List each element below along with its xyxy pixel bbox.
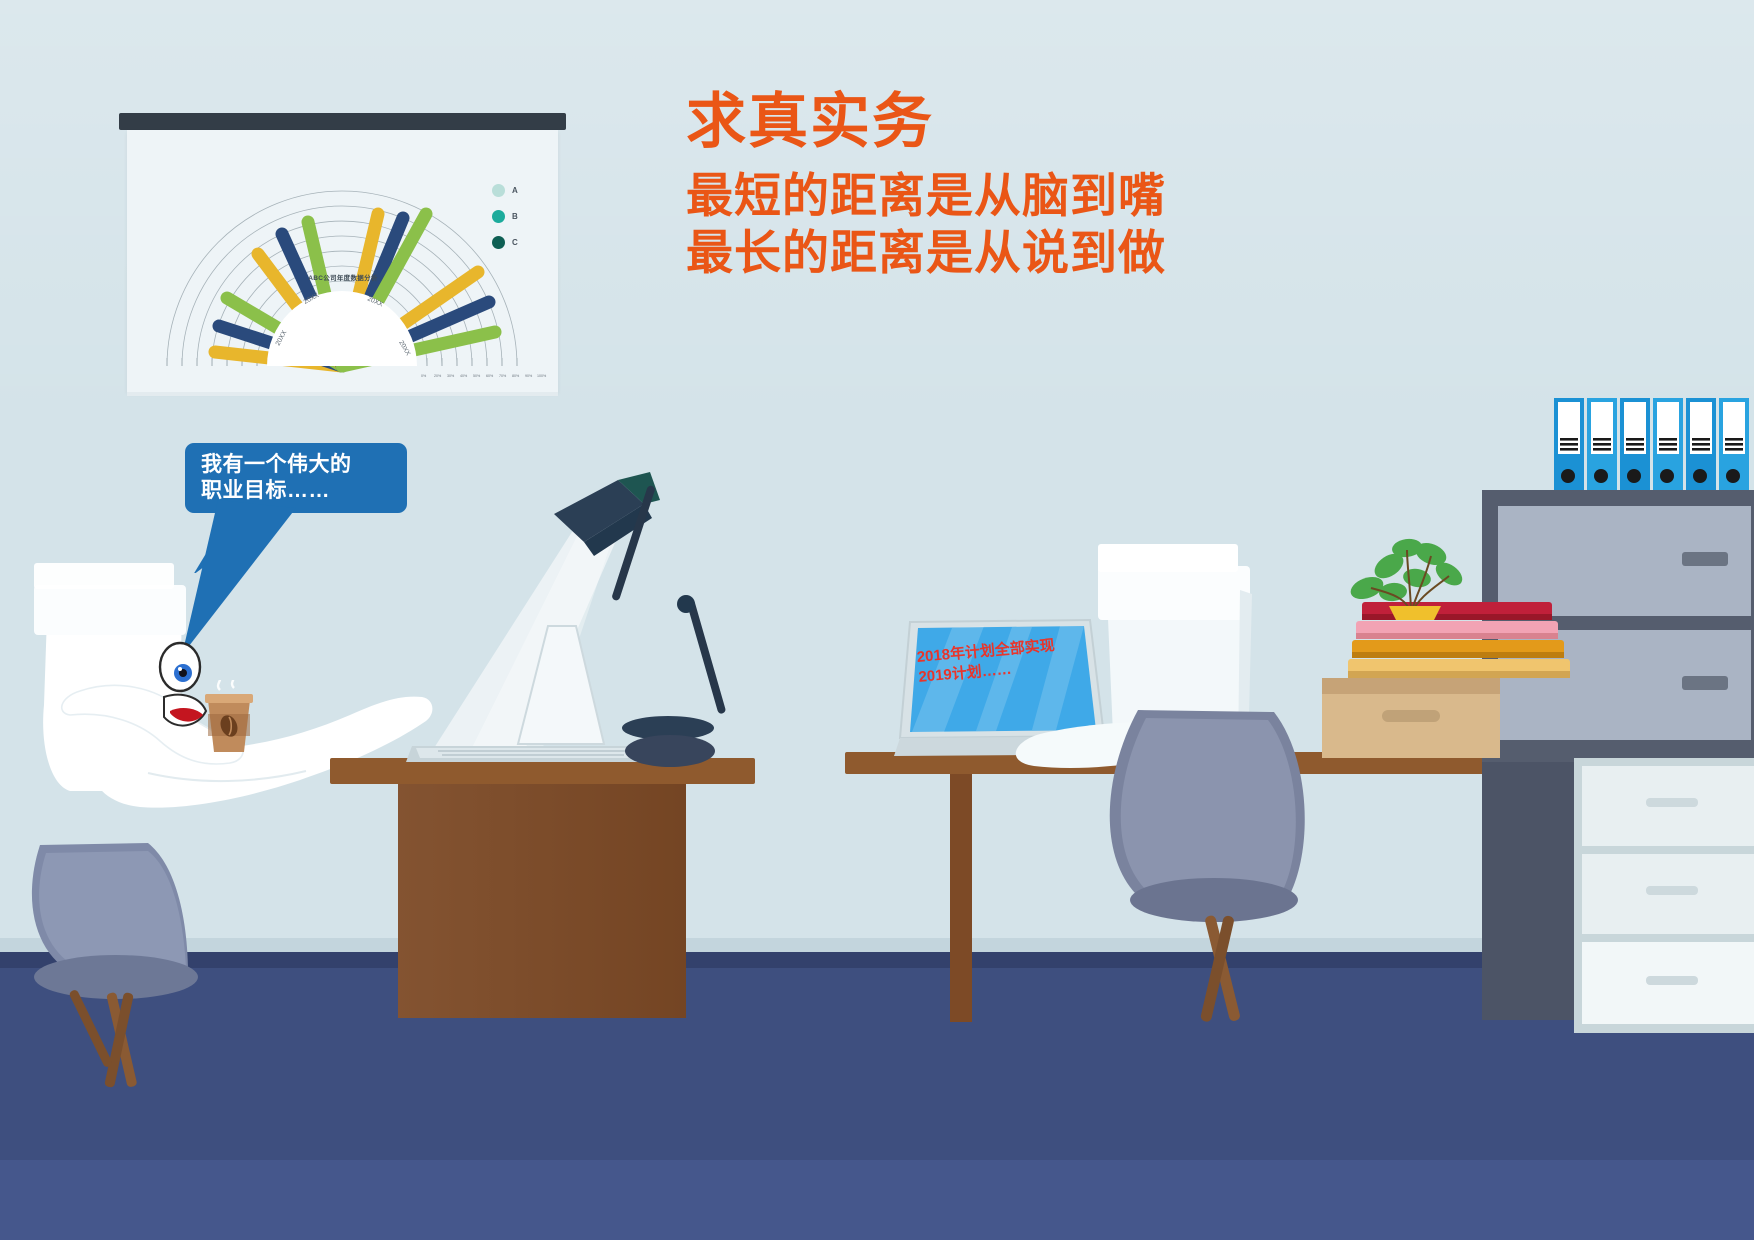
headline-title: 求真实务	[686, 90, 1386, 153]
headline-line-1: 最短的距离是从脑到嘴	[686, 169, 1166, 222]
legend-item: A	[492, 184, 552, 197]
plant-pot	[1389, 606, 1441, 620]
binder	[1554, 398, 1584, 490]
svg-text:80%: 80%	[512, 374, 520, 378]
drawer-handle	[1646, 976, 1698, 985]
right-office-chair	[1098, 700, 1328, 1030]
cabinet-handle	[1682, 676, 1728, 690]
projector-screen: 20XX 20XX 20XX 20XX 0% 20% 30% 40% 50% 6…	[119, 113, 566, 410]
binder	[1587, 398, 1617, 490]
drawer	[1582, 766, 1754, 846]
potted-plant-icon	[1345, 530, 1475, 620]
legend-swatch-c	[492, 236, 505, 249]
svg-text:70%: 70%	[499, 374, 507, 378]
drawer	[1582, 854, 1754, 934]
computer-mouse-icon	[625, 735, 715, 767]
drawer-handle	[1646, 798, 1698, 807]
svg-text:0%: 0%	[421, 374, 427, 378]
drawer	[1582, 942, 1754, 1024]
binder-row	[1552, 392, 1754, 492]
svg-text:100%: 100%	[537, 374, 547, 378]
legend-item: C	[492, 236, 552, 249]
legend-label-c: C	[512, 238, 518, 247]
cardboard-box	[1322, 678, 1500, 758]
book	[1352, 640, 1564, 658]
illustration-stage: 20XX 20XX 20XX 20XX 0% 20% 30% 40% 50% 6…	[0, 0, 1754, 1240]
headline-subtitle: 最短的距离是从脑到嘴 最长的距离是从说到做	[686, 167, 1386, 282]
left-desk-shading	[398, 784, 686, 1018]
legend-swatch-b	[492, 210, 505, 223]
legend-label-a: A	[512, 186, 518, 195]
cabinet-handle	[1682, 552, 1728, 566]
svg-text:60%: 60%	[486, 374, 494, 378]
binder	[1620, 398, 1650, 490]
book	[1356, 621, 1558, 639]
floor-light-band	[0, 1160, 1754, 1240]
svg-text:30%: 30%	[447, 374, 455, 378]
drawer-handle	[1646, 886, 1698, 895]
svg-text:90%: 90%	[525, 374, 533, 378]
svg-text:40%: 40%	[460, 374, 468, 378]
legend-label-b: B	[512, 212, 518, 221]
chart-axis-tick-labels: 0% 20% 30% 40% 50% 60% 70% 80% 90% 100%	[421, 374, 547, 378]
chart-legend: A B C	[492, 184, 552, 262]
speech-line-2: 职业目标……	[201, 479, 330, 502]
svg-text:50%: 50%	[473, 374, 481, 378]
left-desk	[330, 758, 755, 1018]
chart-center-title: ABC公司年度数据分析	[263, 272, 423, 282]
right-desk-leg	[950, 774, 972, 1022]
svg-text:20%: 20%	[434, 374, 442, 378]
box-handle	[1382, 710, 1440, 722]
binder	[1653, 398, 1683, 490]
binder	[1719, 398, 1749, 490]
cup-lid	[1098, 566, 1250, 620]
headline-line-2: 最长的距离是从说到做	[686, 226, 1166, 279]
cup-lid	[34, 585, 186, 635]
headline-block: 求真实务 最短的距离是从脑到嘴 最长的距离是从说到做	[686, 90, 1386, 282]
drawer-unit	[1574, 758, 1754, 1033]
legend-item: B	[492, 210, 552, 223]
projector-screen-canvas: 20XX 20XX 20XX 20XX 0% 20% 30% 40% 50% 6…	[127, 130, 558, 392]
coffee-cup-icon	[194, 680, 264, 760]
speech-bubble-text: 我有一个伟大的 职业目标……	[201, 452, 397, 505]
speech-line-1: 我有一个伟大的	[201, 453, 352, 476]
binder	[1686, 398, 1716, 490]
book	[1348, 659, 1570, 678]
legend-swatch-a	[492, 184, 505, 197]
projector-screen-bottom-bar	[127, 392, 558, 396]
projector-screen-roller	[119, 113, 566, 130]
